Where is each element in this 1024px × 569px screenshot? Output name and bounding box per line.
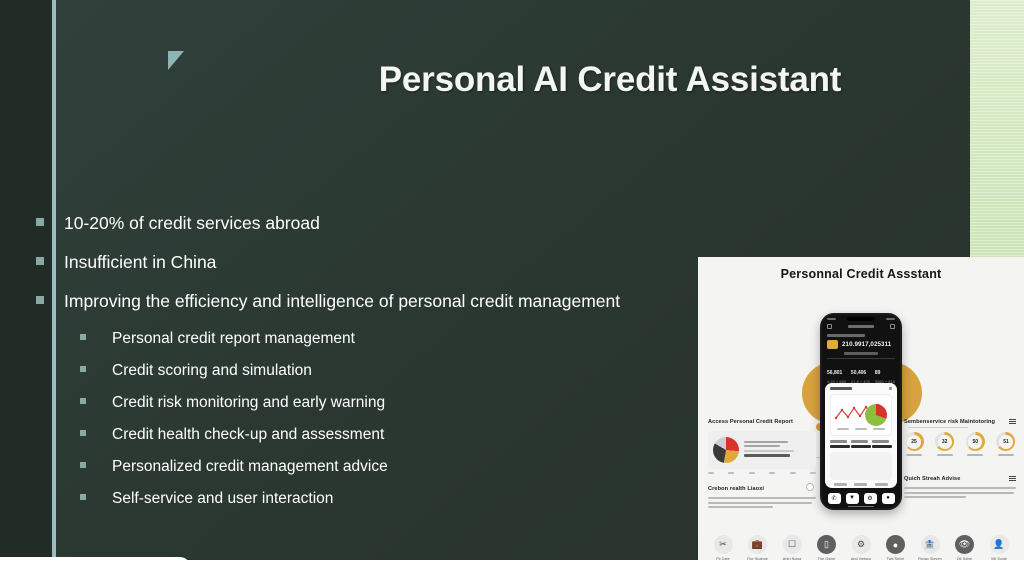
- tab[interactable]: [854, 483, 867, 486]
- sub-bullet-text: Credit scoring and simulation: [112, 361, 312, 381]
- sheet-header: [830, 387, 892, 390]
- bottom-white-rounded-corner: [0, 557, 190, 569]
- icon-item[interactable]: ☐ Arsh Nowa: [777, 535, 807, 561]
- sheet-panel[interactable]: [830, 452, 892, 480]
- icon-item[interactable]: ● Twit Selve: [881, 535, 911, 561]
- sub-bullet-text: Personal credit report management: [112, 329, 355, 349]
- kpi-cell: [872, 440, 892, 448]
- x-tick: [873, 428, 885, 430]
- mockup-title: Personnal Credit Assstant: [698, 267, 1024, 281]
- slide-canvas: Personal AI Credit Assistant 10-20% of c…: [0, 0, 1024, 569]
- icon-item[interactable]: ✂ Fit Cate: [708, 535, 738, 561]
- user-icon[interactable]: 👤: [990, 535, 1009, 554]
- phone-stats-row: 56,801 4.23 + 560 50,406 27.8 + 400 89 9…: [822, 359, 900, 384]
- sub-bullet-marker-icon: [80, 366, 86, 372]
- record-icon[interactable]: ●: [882, 493, 895, 504]
- feature-heading-advice: Quich Streah Advise: [904, 476, 1016, 482]
- sub-bullet-item: Credit health check-up and assessment: [80, 425, 716, 445]
- phone-icon[interactable]: ✆: [828, 493, 841, 504]
- phone-bottom-sheet: [825, 383, 897, 488]
- feature-heading-access-report: Access Personal Credit Report: [708, 419, 816, 425]
- feature-heading-risk-monitoring: Sembenservice risk Maintotoring: [904, 419, 1016, 425]
- x-tick: [837, 428, 849, 430]
- home-indicator: [848, 506, 874, 508]
- status-right: [886, 318, 895, 320]
- phone-app-navbar: [822, 322, 900, 331]
- cart-icon[interactable]: ▼: [846, 493, 859, 504]
- eye-icon[interactable]: 👁: [955, 535, 974, 554]
- gauge: 50: [965, 432, 985, 456]
- bullet-marker-icon: [36, 257, 44, 265]
- sub-bullet-item: Personal credit report management: [80, 329, 716, 349]
- tab[interactable]: [875, 483, 888, 486]
- page-title: Personal AI Credit Assistant: [300, 60, 920, 100]
- sheet-more-icon[interactable]: [889, 387, 892, 390]
- gauge: 51: [996, 432, 1016, 456]
- gear-icon[interactable]: ⚙: [852, 535, 871, 554]
- sub-bullet-marker-icon: [80, 430, 86, 436]
- icon-item[interactable]: 💼 Fior Spange: [743, 535, 773, 561]
- triangle-decoration-icon: [168, 51, 184, 70]
- status-left: [827, 318, 836, 320]
- feature-column-left: Access Personal Credit Report Crebon rea…: [708, 419, 816, 511]
- kpi-row: [830, 440, 892, 448]
- feature-heading-text: Quich Streah Advise: [904, 476, 960, 482]
- bullet-item: Improving the efficiency and intelligenc…: [36, 290, 716, 312]
- bullet-text: 10-20% of credit services abroad: [64, 212, 320, 234]
- phone-dock[interactable]: ✆ ▼ ⚙ ●: [825, 490, 897, 506]
- camera-icon[interactable]: ●: [886, 535, 905, 554]
- sub-bullet-marker-icon: [80, 462, 86, 468]
- stat-cell: 56,801 4.23 + 560: [827, 361, 846, 384]
- sub-bullet-list: Personal credit report management Credit…: [36, 329, 716, 509]
- gauge-value: 32: [938, 435, 952, 449]
- sub-bullet-marker-icon: [80, 334, 86, 340]
- gauge-value: 51: [999, 435, 1013, 449]
- sheet-tabs[interactable]: [830, 483, 892, 486]
- bullet-text: Improving the efficiency and intelligenc…: [64, 290, 620, 312]
- app-screen-title: [848, 325, 874, 328]
- gauge: 32: [935, 432, 955, 456]
- card-number-row: 210.9917,025311: [822, 337, 900, 349]
- card-chip-icon: [827, 340, 838, 349]
- kpi-cell: [851, 440, 871, 448]
- feature-heading-text: Sembenservice risk Maintotoring: [904, 419, 995, 425]
- x-tick: [855, 428, 867, 430]
- bullet-list: 10-20% of credit services abroad Insuffi…: [36, 212, 716, 521]
- gauge-row: 25 32 50 51: [904, 432, 1016, 456]
- gauge-value: 25: [907, 435, 921, 449]
- chart-axis-ticks: [708, 472, 816, 474]
- menu-icon[interactable]: [890, 324, 895, 329]
- stat-cell: 50,406 27.8 + 400: [851, 361, 870, 384]
- gauge-label: [937, 454, 953, 456]
- pie-chart: [865, 404, 887, 426]
- sub-bullet-text: Self-service and user interaction: [112, 489, 333, 509]
- sub-bullet-item: Credit scoring and simulation: [80, 361, 716, 381]
- chart-x-labels: [834, 428, 888, 430]
- gauge-label: [967, 454, 983, 456]
- icon-item[interactable]: 👤 Vitt Scote: [984, 535, 1014, 561]
- card-text-lines: [744, 441, 794, 460]
- icon-item[interactable]: 👁 Oit Solve: [950, 535, 980, 561]
- card-image-icon[interactable]: ☐: [783, 535, 802, 554]
- bullet-item: Insufficient in China: [36, 251, 716, 273]
- balance-label: [844, 352, 878, 355]
- icon-item[interactable]: 🏦 Roxay Steven: [915, 535, 945, 561]
- menu-icon[interactable]: [1009, 419, 1016, 424]
- app-mockup-image: Personnal Credit Assstant 210.9917,02531…: [698, 257, 1024, 569]
- stat-cell: 89 9560 + 810: [875, 361, 895, 384]
- sub-bullet-text: Credit risk monitoring and early warning: [112, 393, 385, 413]
- bullet-marker-icon: [36, 218, 44, 226]
- feature-heading-health: Crebon realth Liaoxi: [708, 486, 816, 492]
- gauge: 25: [904, 432, 924, 456]
- feature-paragraph: [708, 497, 816, 508]
- sub-bullet-marker-icon: [80, 398, 86, 404]
- icon-item[interactable]: ▯ The Osine: [812, 535, 842, 561]
- line-chart: [830, 394, 892, 436]
- gauge-label: [906, 454, 922, 456]
- bullet-text: Insufficient in China: [64, 251, 216, 273]
- stat-value: 89: [875, 370, 881, 376]
- bullet-item: 10-20% of credit services abroad: [36, 212, 716, 234]
- sub-bullet-marker-icon: [80, 494, 86, 500]
- back-icon[interactable]: [827, 324, 832, 329]
- card-number: 210.9917,025311: [842, 341, 891, 348]
- kpi-cell: [830, 440, 850, 448]
- bank-icon[interactable]: 🏦: [921, 535, 940, 554]
- gauge-value: 50: [968, 435, 982, 449]
- gear-icon[interactable]: ⚙: [864, 493, 877, 504]
- sheet-title: [830, 387, 852, 390]
- icon-item[interactable]: ⚙ And Vietsco: [846, 535, 876, 561]
- sub-bullet-item: Personalized credit management advice: [80, 457, 716, 477]
- monitor-icon[interactable]: ▯: [817, 535, 836, 554]
- feature-column-right: Sembenservice risk Maintotoring 25 32 50…: [904, 419, 1016, 501]
- stat-value: 50,406: [851, 370, 866, 376]
- bullet-marker-icon: [36, 296, 44, 304]
- sub-bullet-item: Self-service and user interaction: [80, 489, 716, 509]
- scissors-icon[interactable]: ✂: [714, 535, 733, 554]
- sub-bullet-text: Personalized credit management advice: [112, 457, 388, 477]
- tab[interactable]: [834, 483, 847, 486]
- feature-icon-row: ✂ Fit Cate 💼 Fior Spange ☐ Arsh Nowa ▯ T…: [708, 535, 1014, 561]
- donut-chart: [713, 437, 739, 463]
- credit-report-card: [708, 431, 816, 469]
- gauge-label: [998, 454, 1014, 456]
- phone-notch: [847, 317, 875, 321]
- feature-paragraph: [904, 487, 1016, 498]
- sub-bullet-item: Credit risk monitoring and early warning: [80, 393, 716, 413]
- sub-bullet-text: Credit health check-up and assessment: [112, 425, 384, 445]
- bag-icon[interactable]: 💼: [748, 535, 767, 554]
- phone-mockup: 210.9917,025311 56,801 4.23 + 560 50,406…: [820, 313, 902, 510]
- list-icon[interactable]: [1009, 476, 1016, 481]
- stat-value: 56,801: [827, 370, 842, 376]
